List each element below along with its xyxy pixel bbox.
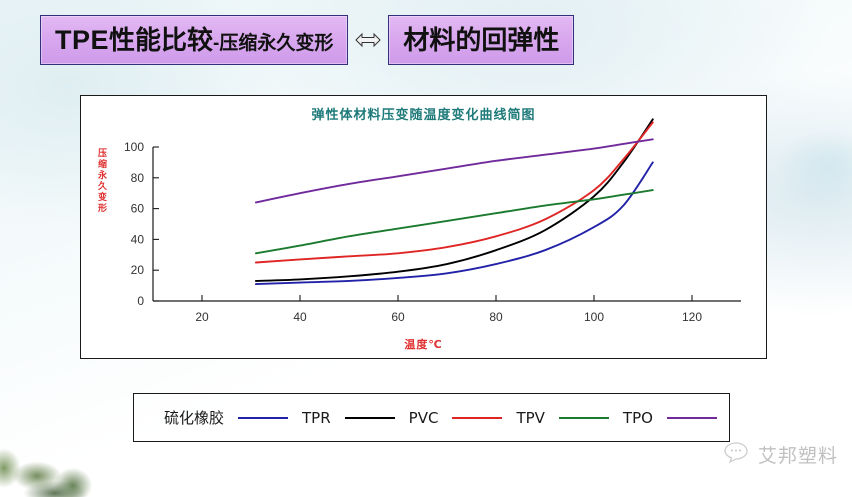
chart-plot-area: 020406080100 20406080100120	[81, 96, 766, 358]
chart-x-tick-label: 40	[293, 310, 307, 324]
legend-entry-2[interactable]: TPR	[302, 409, 409, 427]
legend-label: TPR	[302, 409, 331, 427]
legend-label: TPO	[623, 409, 653, 427]
legend-entry-1[interactable]: 硫化橡胶	[164, 407, 302, 428]
double-arrow-icon	[348, 30, 388, 50]
legend-color-swatch	[452, 417, 502, 419]
watermark-text: 艾邦塑料	[758, 441, 838, 468]
legend-color-swatch	[238, 417, 288, 419]
chart-panel: 弹性体材料压变随温度变化曲线简图 压缩永久变形 温度℃ 020406080100…	[80, 95, 767, 359]
header-right-title-box: 材料的回弹性	[388, 15, 574, 65]
background-foliage-decoration	[0, 401, 136, 497]
header-sub-text: -压缩永久变形	[213, 28, 333, 55]
chart-legend: 硫化橡胶TPRPVCTPVTPO	[133, 393, 730, 442]
chart-y-tick-label: 100	[124, 140, 144, 154]
legend-entry-4[interactable]: TPV	[516, 409, 622, 427]
header-left-title-box: TPE 性能比较 -压缩永久变形	[40, 15, 348, 65]
chart-y-tick-label: 0	[137, 294, 144, 308]
legend-entry-5[interactable]: TPO	[623, 409, 731, 427]
legend-color-swatch	[667, 417, 717, 419]
legend-label: PVC	[409, 409, 439, 427]
chart-series-line	[256, 190, 653, 253]
chart-x-tick-label: 80	[489, 310, 503, 324]
slide-header: TPE 性能比较 -压缩永久变形 材料的回弹性	[40, 15, 574, 65]
chart-x-axis-ticks: 20406080100120	[195, 295, 702, 324]
chart-y-tick-label: 60	[131, 202, 145, 216]
chart-y-tick-label: 40	[131, 232, 145, 246]
chart-x-tick-label: 20	[195, 310, 209, 324]
chart-x-tick-label: 60	[391, 310, 405, 324]
legend-color-swatch	[345, 417, 395, 419]
slide-canvas: TPE 性能比较 -压缩永久变形 材料的回弹性 弹性体材料压变随温度变化曲线简图…	[0, 0, 852, 485]
header-right-text: 材料的回弹性	[403, 20, 559, 57]
chart-series-group	[256, 119, 653, 284]
legend-entry-3[interactable]: PVC	[409, 409, 517, 427]
chart-series-line	[256, 162, 653, 284]
chart-series-line	[256, 122, 653, 262]
watermark: 艾邦塑料	[721, 440, 838, 469]
legend-label: 硫化橡胶	[164, 407, 224, 428]
legend-color-swatch	[559, 417, 609, 419]
chart-x-tick-label: 120	[682, 310, 702, 324]
legend-label: TPV	[516, 409, 544, 427]
chart-x-tick-label: 100	[584, 310, 604, 324]
chart-y-axis-ticks: 020406080100	[124, 140, 159, 308]
chart-series-line	[256, 139, 653, 202]
chart-y-tick-label: 20	[131, 263, 145, 277]
chart-y-tick-label: 80	[131, 171, 145, 185]
header-main-text: 性能比较	[109, 20, 213, 57]
header-brand-text: TPE	[55, 25, 109, 56]
chat-bubble-logo-icon	[721, 440, 751, 469]
